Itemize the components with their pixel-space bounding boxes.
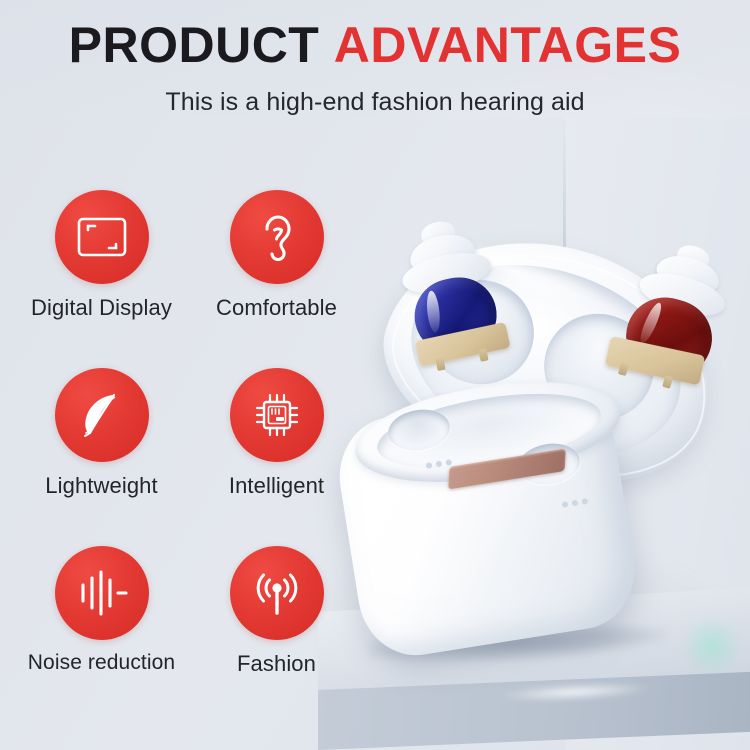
feature-label: Noise reduction (28, 651, 175, 675)
broadcast-signal-icon (251, 567, 303, 619)
page-title-primary: PRODUCT (69, 17, 320, 73)
feather-icon (76, 389, 128, 441)
feature-lightweight[interactable]: Lightweight (14, 368, 189, 546)
feature-noise-reduction[interactable]: Noise reduction (14, 546, 189, 724)
feature-icon-badge (230, 368, 324, 462)
feature-icon-badge (55, 190, 149, 284)
page-subtitle: This is a high-end fashion hearing aid (0, 88, 750, 117)
feature-grid: Digital Display Comfortable (14, 190, 364, 724)
case-glow (682, 616, 742, 676)
feature-icon-badge (230, 546, 324, 640)
product-advantages-poster: PRODUCT ADVANTAGES This is a high-end fa… (0, 0, 750, 750)
cpu-chip-icon (252, 390, 302, 440)
feature-label: Intelligent (229, 473, 324, 499)
sound-wave-icon (76, 568, 128, 618)
feature-digital-display[interactable]: Digital Display (14, 190, 189, 368)
page-title-accent: ADVANTAGES (334, 17, 682, 73)
feature-label: Lightweight (45, 473, 157, 499)
aid-contact-pin (662, 375, 673, 389)
digital-display-icon (76, 216, 128, 258)
hearing-aid-right-red (576, 224, 750, 436)
product-image (330, 218, 750, 648)
page-title: PRODUCT ADVANTAGES (0, 20, 750, 70)
feature-label: Comfortable (216, 295, 337, 321)
feature-icon-badge (55, 368, 149, 462)
feature-icon-badge (230, 190, 324, 284)
aid-contact-pin (618, 362, 629, 376)
ear-icon (255, 210, 299, 264)
feature-label: Fashion (237, 651, 316, 677)
feature-icon-badge (55, 546, 149, 640)
feature-label: Digital Display (31, 295, 172, 321)
